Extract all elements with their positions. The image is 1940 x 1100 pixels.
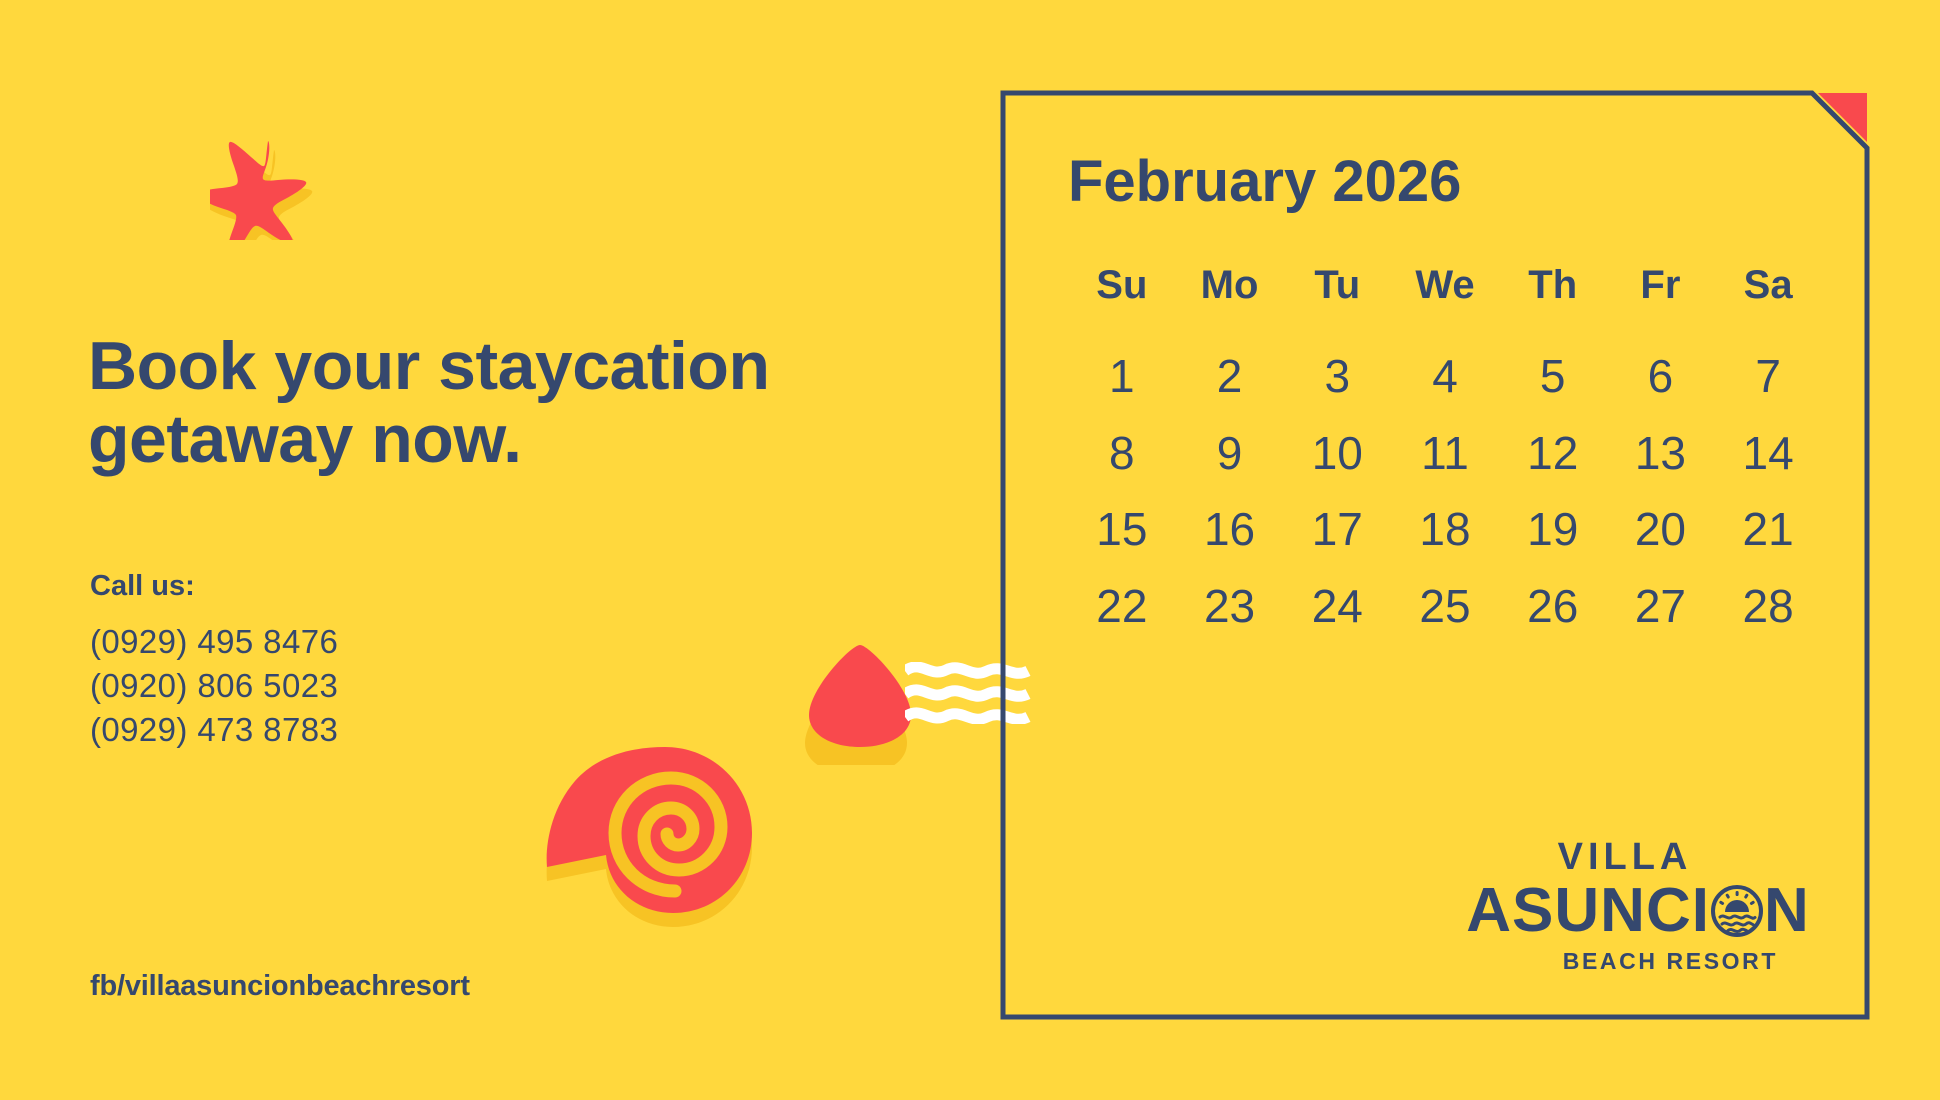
day-cell[interactable]: 5	[1499, 346, 1607, 407]
day-cell[interactable]: 26	[1499, 576, 1607, 637]
calendar-week-row: 8 9 10 11 12 13 14	[1068, 423, 1822, 484]
weekday-sa: Sa	[1714, 263, 1822, 312]
phone-number-3[interactable]: (0929) 473 8783	[90, 708, 338, 752]
day-cell[interactable]: 2	[1176, 346, 1284, 407]
facebook-handle-link[interactable]: fb/villaasuncionbeachresort	[90, 970, 470, 1003]
weekday-fr: Fr	[1607, 263, 1715, 312]
day-cell[interactable]: 14	[1714, 423, 1822, 484]
logo-asuncion-wordmark: ASUNCI N	[1498, 880, 1778, 942]
headline-line-2: getaway now.	[88, 403, 968, 476]
day-cell[interactable]: 15	[1068, 499, 1176, 560]
left-content-panel: Book your staycation getaway now. Call u…	[0, 0, 1000, 1100]
day-cell[interactable]: 17	[1283, 499, 1391, 560]
day-cell[interactable]: 23	[1176, 576, 1284, 637]
phone-number-list: (0929) 495 8476 (0920) 806 5023 (0929) 4…	[90, 620, 338, 752]
headline-line-1: Book your staycation	[88, 330, 968, 403]
logo-tagline-text: BEACH RESORT	[1498, 948, 1778, 975]
sun-over-waves-emblem	[1711, 885, 1763, 937]
page-headline: Book your staycation getaway now.	[88, 330, 968, 477]
day-cell[interactable]: 18	[1391, 499, 1499, 560]
day-cell[interactable]: 25	[1391, 576, 1499, 637]
phone-number-1[interactable]: (0929) 495 8476	[90, 620, 338, 664]
day-cell[interactable]: 13	[1607, 423, 1715, 484]
day-cell[interactable]: 24	[1283, 576, 1391, 637]
weekday-we: We	[1391, 263, 1499, 312]
weekday-th: Th	[1499, 263, 1607, 312]
day-cell[interactable]: 22	[1068, 576, 1176, 637]
brand-logo: VILLA ASUNCI N B	[1498, 838, 1778, 975]
calendar-week-row: 15 16 17 18 19 20 21	[1068, 499, 1822, 560]
day-cell[interactable]: 10	[1283, 423, 1391, 484]
day-cell[interactable]: 6	[1607, 346, 1715, 407]
calendar-weekday-header: Su Mo Tu We Th Fr Sa	[1068, 263, 1822, 312]
day-cell[interactable]: 12	[1499, 423, 1607, 484]
day-cell[interactable]: 3	[1283, 346, 1391, 407]
weekday-tu: Tu	[1283, 263, 1391, 312]
logo-asuncion-text-a: ASUNCI	[1466, 880, 1710, 942]
call-us-label: Call us:	[90, 570, 195, 603]
seashell-decoration	[545, 745, 760, 945]
starfish-decoration	[210, 130, 320, 240]
day-cell[interactable]: 1	[1068, 346, 1176, 407]
calendar-title: February 2026	[1068, 148, 1808, 215]
day-cell[interactable]: 16	[1176, 499, 1284, 560]
phone-number-2[interactable]: (0920) 806 5023	[90, 664, 338, 708]
day-cell[interactable]: 27	[1607, 576, 1715, 637]
day-cell[interactable]: 7	[1714, 346, 1822, 407]
day-cell[interactable]: 28	[1714, 576, 1822, 637]
calendar-days-grid: 1 2 3 4 5 6 7 8 9 10 11 12 13 14 15 16 1…	[1068, 346, 1808, 637]
day-cell[interactable]: 11	[1391, 423, 1499, 484]
day-cell[interactable]: 19	[1499, 499, 1607, 560]
calendar-week-row: 22 23 24 25 26 27 28	[1068, 576, 1822, 637]
day-cell[interactable]: 8	[1068, 423, 1176, 484]
day-cell[interactable]: 20	[1607, 499, 1715, 560]
logo-villa-text: VILLA	[1472, 838, 1778, 876]
day-cell[interactable]: 21	[1714, 499, 1822, 560]
logo-asuncion-text-b: N	[1764, 880, 1810, 942]
calendar-week-row: 1 2 3 4 5 6 7	[1068, 346, 1822, 407]
weekday-su: Su	[1068, 263, 1176, 312]
day-cell[interactable]: 4	[1391, 346, 1499, 407]
day-cell[interactable]: 9	[1176, 423, 1284, 484]
weekday-mo: Mo	[1176, 263, 1284, 312]
